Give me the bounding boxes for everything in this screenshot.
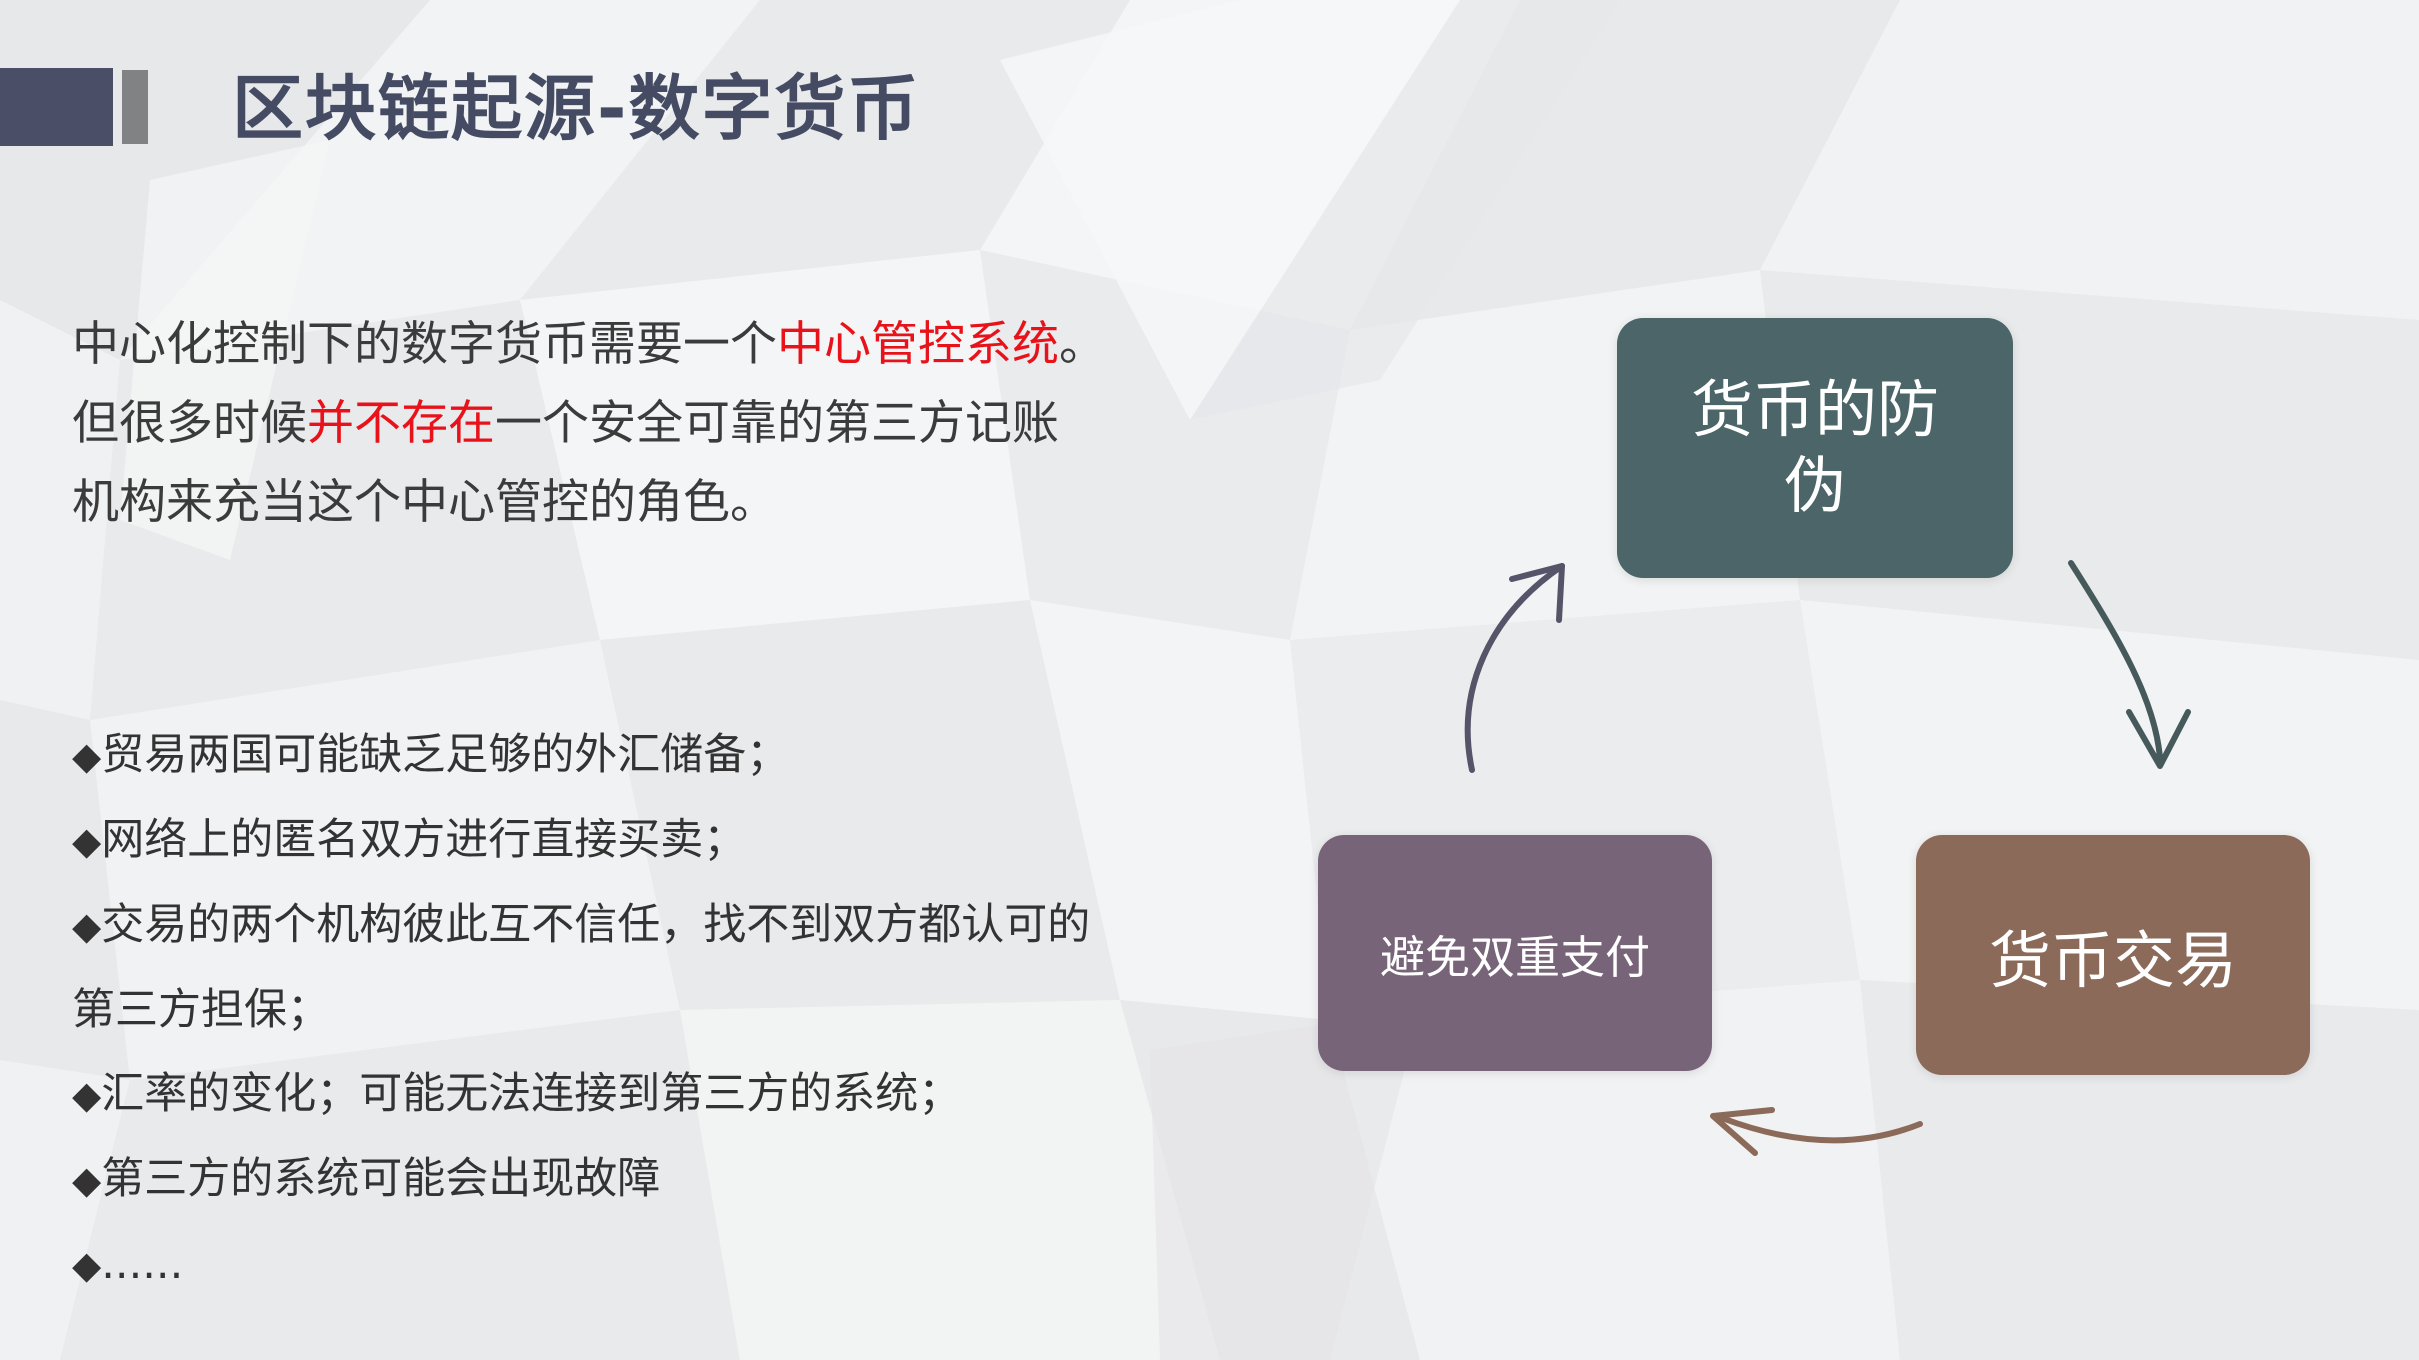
- paragraph-line-2-highlight: 并不存在: [307, 396, 495, 451]
- reasons-bullet-list: ◆贸易两国可能缺乏足够的外汇储备； ◆网络上的匿名双方进行直接买卖； ◆交易的两…: [72, 713, 1362, 1307]
- paragraph-line-1-post: 。: [1059, 317, 1106, 372]
- diagram-node-currency-trade[interactable]: 货币交易: [1916, 835, 2310, 1075]
- diagram-node-anti-counterfeit[interactable]: 货币的防伪: [1617, 318, 2013, 578]
- diagram-node-label: 避免双重支付: [1380, 921, 1650, 986]
- list-item-label: 贸易两国可能缺乏足够的外汇储备；: [101, 730, 789, 780]
- title-accent-block: [0, 68, 113, 146]
- intro-paragraph: 中心化控制下的数字货币需要一个中心管控系统。 但很多时候并不存在一个安全可靠的第…: [72, 305, 1322, 542]
- paragraph-line-2-pre: 但很多时候: [72, 396, 307, 451]
- list-item-label: 汇率的变化；可能无法连接到第三方的系统；: [101, 1069, 961, 1119]
- list-item-label: ......: [101, 1239, 183, 1289]
- list-item-label: 第三方的系统可能会出现故障: [101, 1154, 660, 1204]
- diagram-node-avoid-double-spend[interactable]: 避免双重支付: [1318, 835, 1712, 1071]
- diamond-bullet-icon: ◆: [72, 904, 101, 948]
- list-item: ◆交易的两个机构彼此互不信任，找不到双方都认可的: [72, 883, 1362, 968]
- diamond-bullet-icon: ◆: [72, 1243, 101, 1287]
- diamond-bullet-icon: ◆: [72, 1073, 101, 1117]
- paragraph-line-2-post: 一个安全可靠的第三方记账: [495, 396, 1059, 451]
- list-item: ◆网络上的匿名双方进行直接买卖；: [72, 798, 1362, 883]
- list-item-label: 网络上的匿名双方进行直接买卖；: [101, 815, 746, 865]
- diagram-node-label: 货币交易: [1989, 910, 2237, 1000]
- title-accent-bar: [122, 70, 148, 144]
- list-item: ◆第三方的系统可能会出现故障: [72, 1137, 1362, 1222]
- list-item-label: 交易的两个机构彼此互不信任，找不到双方都认可的: [101, 900, 1090, 950]
- paragraph-line-3: 机构来充当这个中心管控的角色。: [72, 463, 1322, 542]
- paragraph-line-1-highlight: 中心管控系统: [777, 317, 1059, 372]
- list-item: ◆贸易两国可能缺乏足够的外汇储备；: [72, 713, 1362, 798]
- list-item: ◆汇率的变化；可能无法连接到第三方的系统；: [72, 1052, 1362, 1137]
- list-item-continuation: 第三方担保；: [72, 968, 1362, 1052]
- paragraph-line-2: 但很多时候并不存在一个安全可靠的第三方记账: [72, 384, 1322, 463]
- paragraph-line-1-pre: 中心化控制下的数字货币需要一个: [72, 317, 777, 372]
- diamond-bullet-icon: ◆: [72, 1158, 101, 1202]
- paragraph-line-1: 中心化控制下的数字货币需要一个中心管控系统。: [72, 305, 1322, 384]
- slide-canvas: 区块链起源-数字货币 中心化控制下的数字货币需要一个中心管控系统。 但很多时候并…: [0, 0, 2419, 1360]
- diamond-bullet-icon: ◆: [72, 819, 101, 863]
- diagram-node-label: 货币的防伪: [1661, 372, 1969, 524]
- page-title: 区块链起源-数字货币: [232, 52, 920, 154]
- list-item: ◆......: [72, 1222, 1362, 1307]
- diamond-bullet-icon: ◆: [72, 734, 101, 778]
